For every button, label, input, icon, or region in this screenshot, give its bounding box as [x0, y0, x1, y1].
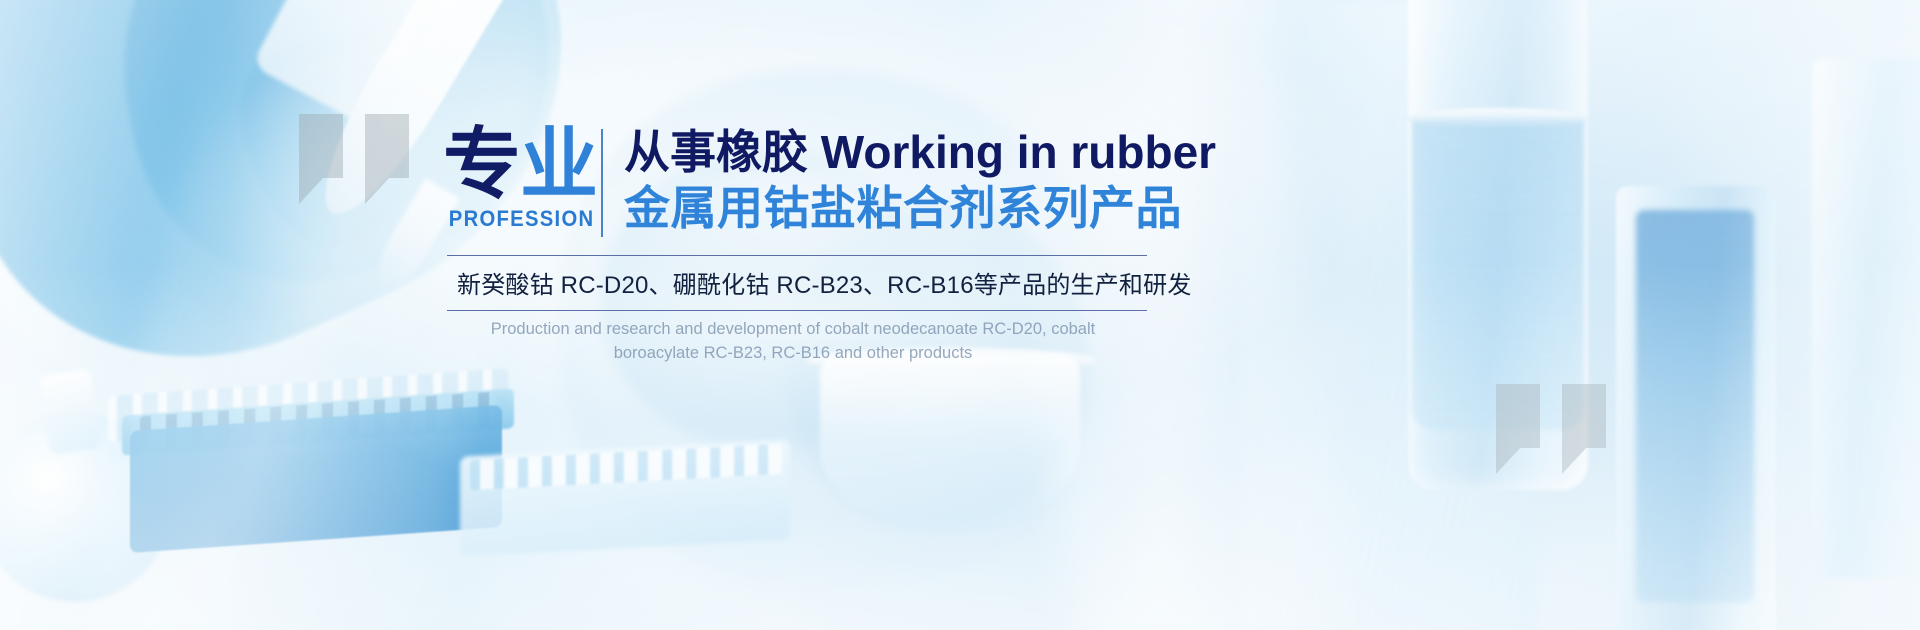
hero-banner: 专业 PROFESSION 从事橡胶 Working in rubber 金属用…	[0, 0, 1920, 630]
profession-logo-chinese: 专业	[443, 126, 588, 202]
subtitle-rule-box: 新癸酸钴 RC-D20、硼酰化钴 RC-B23、RC-B16等产品的生产和研发	[447, 255, 1147, 311]
profession-logo-char-two: 业	[520, 120, 597, 208]
profession-logo-char-one: 专	[443, 120, 520, 208]
banner-content: 专业 PROFESSION 从事橡胶 Working in rubber 金属用…	[0, 0, 1920, 630]
subtitle-text: 新癸酸钴 RC-D20、硼酰化钴 RC-B23、RC-B16等产品的生产和研发	[457, 265, 1147, 300]
english-description-text: Production and research and development …	[447, 318, 1139, 366]
headline-line-one: 从事橡胶 Working in rubber	[624, 128, 1216, 178]
headline-line-two: 金属用钴盐粘合剂系列产品	[624, 184, 1216, 234]
profession-logo-english: PROFESSION	[449, 206, 582, 232]
headline-block: 从事橡胶 Working in rubber 金属用钴盐粘合剂系列产品	[624, 128, 1216, 233]
profession-logo: 专业 PROFESSION	[443, 126, 588, 232]
vertical-divider	[601, 129, 603, 237]
